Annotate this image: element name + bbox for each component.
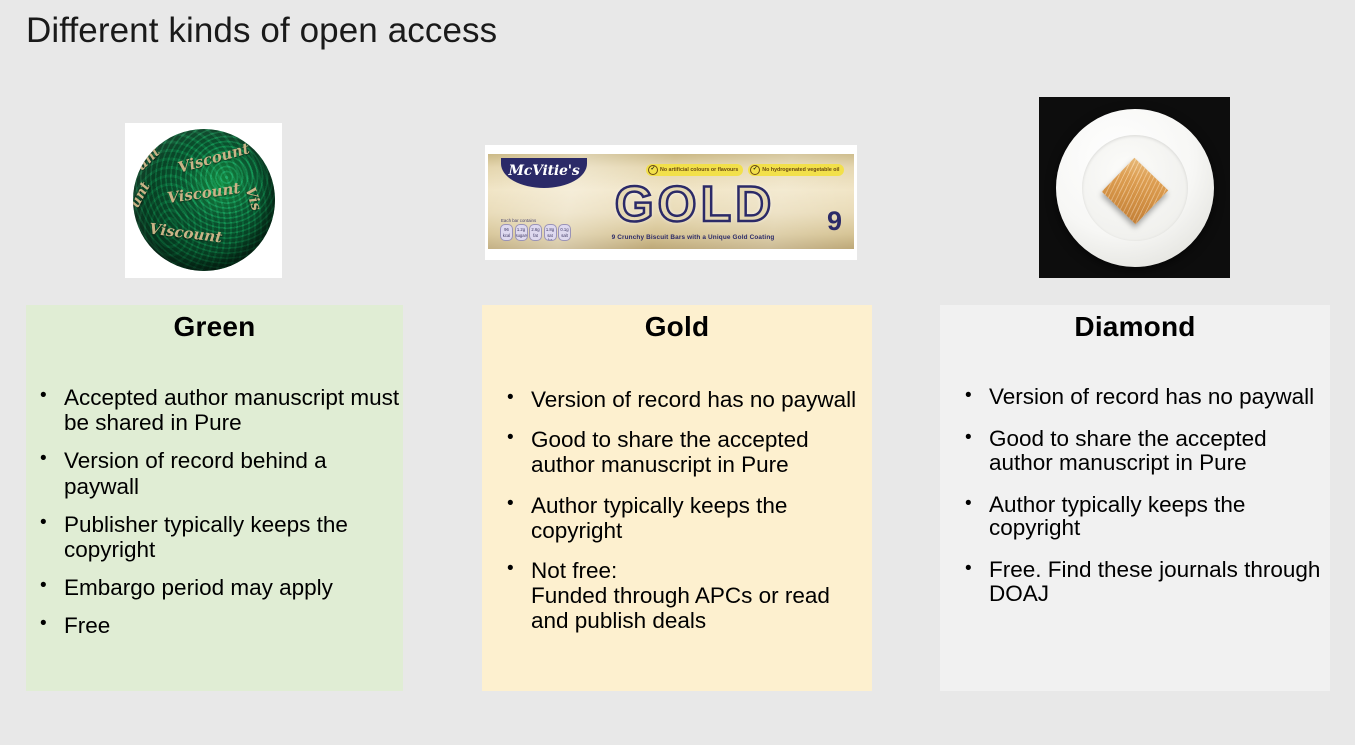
- gda-box: 96kcal: [500, 224, 513, 241]
- gda-box: 2.6gfat: [529, 224, 542, 241]
- gda-caption: Each bar contains: [501, 218, 536, 223]
- gda-box: 1.2gsugars: [515, 224, 528, 241]
- baklava-plate-image: [1039, 97, 1230, 278]
- white-plate: [1056, 109, 1214, 267]
- list-item: Good to share the accepted author manusc…: [493, 427, 872, 477]
- check-icon: ✓: [750, 165, 760, 175]
- claim-text: No artificial colours or flavours: [660, 167, 738, 173]
- list-item: Version of record has no paywall: [493, 387, 872, 412]
- bullet-list-green: Accepted author manuscript must be share…: [26, 385, 403, 639]
- gda-nutrition-row: 96kcal 1.2gsugars 2.6gfat 1.8gsat fat 0.…: [500, 224, 571, 241]
- list-item: Version of record behind a paywall: [26, 448, 403, 498]
- gold-pack-wrapper: McVitie's ✓ No artificial colours or fla…: [488, 154, 854, 249]
- list-item: Free: [26, 613, 403, 638]
- mcvities-gold-bar-image: McVitie's ✓ No artificial colours or fla…: [485, 145, 857, 260]
- list-item: Not free: Funded through APCs or read an…: [493, 558, 872, 634]
- bullet-list-diamond: Version of record has no paywall Good to…: [951, 385, 1330, 606]
- bullet-list-gold: Version of record has no paywall Good to…: [493, 387, 872, 634]
- list-item: Author typically keeps the copyright: [951, 493, 1330, 541]
- list-item: Embargo period may apply: [26, 575, 403, 600]
- list-item: Version of record has no paywall: [951, 385, 1330, 409]
- list-item: Good to share the accepted author manusc…: [951, 427, 1330, 475]
- viscount-biscuit-image: Viscount Viscount Viscount unt unt Vis: [125, 123, 282, 278]
- column-gold: Gold Version of record has no paywall Go…: [482, 305, 872, 691]
- column-green: Green Accepted author manuscript must be…: [26, 305, 403, 691]
- list-item: Free. Find these journals through DOAJ: [951, 558, 1330, 606]
- list-item: Publisher typically keeps the copyright: [26, 512, 403, 562]
- column-diamond: Diamond Version of record has no paywall…: [940, 305, 1330, 691]
- column-heading-green: Green: [26, 305, 403, 343]
- list-item: Accepted author manuscript must be share…: [26, 385, 403, 435]
- page-title: Different kinds of open access: [26, 11, 497, 51]
- column-heading-diamond: Diamond: [940, 305, 1330, 343]
- viscount-disc: Viscount Viscount Viscount unt unt Vis: [133, 129, 275, 271]
- column-heading-gold: Gold: [482, 305, 872, 343]
- gold-tagline: 9 Crunchy Biscuit Bars with a Unique Gol…: [568, 234, 818, 241]
- gda-box: 0.1gsalt: [558, 224, 571, 241]
- gold-pack-count: 9: [827, 206, 842, 237]
- check-icon: ✓: [648, 165, 658, 175]
- gold-product-name: GOLD: [570, 175, 820, 233]
- claim-text: No hydrogenated vegetable oil: [762, 167, 839, 173]
- list-item: Author typically keeps the copyright: [493, 493, 872, 543]
- gda-box: 1.8gsat fat: [544, 224, 557, 241]
